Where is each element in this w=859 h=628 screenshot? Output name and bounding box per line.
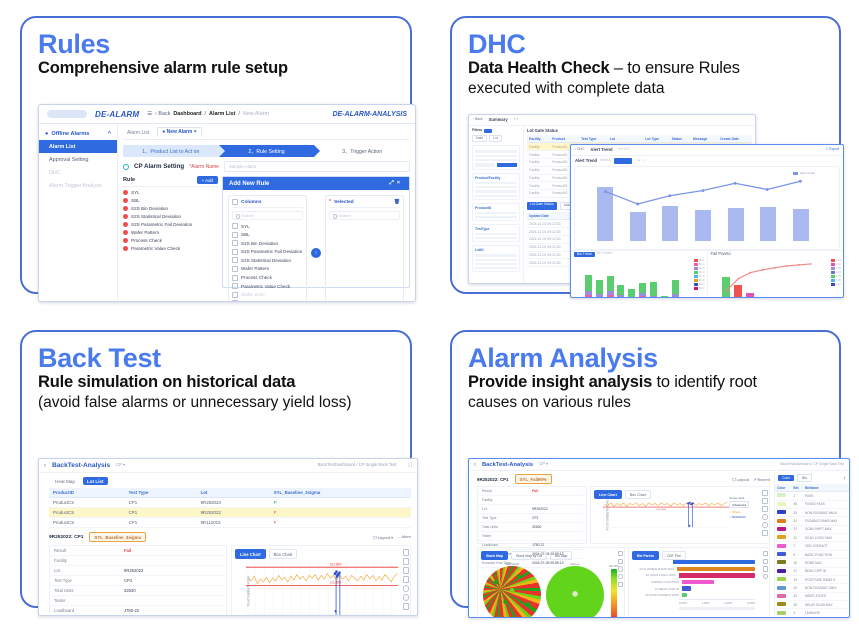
close-icon[interactable]: × bbox=[397, 180, 403, 186]
pareto-title: Fail Pareto bbox=[711, 252, 731, 256]
add-rule-button[interactable]: + Add bbox=[197, 176, 218, 184]
table-row[interactable]: ProductCSCP1 9R112015F bbox=[49, 518, 411, 528]
selected-search-input[interactable]: Search bbox=[329, 211, 400, 220]
status-dot-icon bbox=[123, 164, 129, 170]
error-dot-icon bbox=[123, 214, 128, 219]
expand-icon[interactable]: ⤢ bbox=[390, 180, 397, 186]
detail-row: ResultFail bbox=[478, 487, 586, 496]
alert-trend-label: Alert Trend bbox=[575, 159, 597, 163]
delete-icon[interactable]: 🗑 bbox=[394, 200, 400, 205]
chart-toolbar bbox=[403, 549, 410, 610]
filter-group-product-id[interactable]: ProductID bbox=[472, 203, 520, 221]
series-split-control[interactable]: Series Split isSelected ○ Others ○ 9R252… bbox=[729, 496, 749, 519]
x-tick: 0.00% bbox=[679, 601, 687, 607]
filter-badge[interactable] bbox=[484, 129, 492, 133]
download-icon[interactable] bbox=[763, 559, 768, 564]
subtitle-bold: Provide insight analysis bbox=[468, 373, 652, 391]
layout-button[interactable]: ☐ Layout bbox=[732, 477, 749, 482]
fullscreen-icon[interactable] bbox=[762, 490, 768, 496]
modal-controls[interactable]: ⤢× bbox=[390, 180, 403, 187]
table-header-row: ProductID Test Type Lot SYL_Baseline_3si… bbox=[49, 488, 411, 498]
selected-header: Selected bbox=[334, 200, 354, 205]
download-icon[interactable] bbox=[618, 559, 623, 564]
app-title: BackTest-Analysis bbox=[482, 462, 533, 468]
page-subtitle: Provide insight analysis to identify roo… bbox=[468, 373, 825, 392]
list-item[interactable]: S2S Parametric Fail Deviation bbox=[123, 222, 218, 227]
series-split-value[interactable]: isSelected bbox=[729, 501, 749, 508]
download-icon[interactable] bbox=[403, 567, 410, 574]
checkbox bbox=[232, 292, 238, 298]
horizontal-bar-series: 24 FUSABLE RAMS MAX 22 SCAN LOGIC MAX 9 … bbox=[631, 559, 755, 606]
error-dot-icon bbox=[123, 222, 128, 227]
menu-icon[interactable]: ☰ bbox=[147, 111, 152, 117]
list-item[interactable]: Process Check bbox=[123, 238, 218, 243]
table-row[interactable]: 15ROM0 MAX bbox=[775, 559, 849, 567]
table-row[interactable]: 34FUSABLE RAMS MIN bbox=[775, 617, 849, 618]
detail-row: Facility bbox=[50, 556, 226, 566]
panel-rules: Rules Comprehensive alarm rule setup DE-… bbox=[0, 0, 430, 314]
error-dot-icon bbox=[123, 230, 128, 235]
lot-detail-header: 9R252022: CP1 SYL_Baseline_3sigma ☐ Layo… bbox=[39, 528, 417, 545]
table-row[interactable]: 9BASIC FUNCTION bbox=[775, 550, 849, 558]
detail-row: Test TypeCP1 bbox=[50, 576, 226, 586]
detail-row: LoadboardJ750-22 bbox=[50, 606, 226, 616]
back-test-card: Back Test Rule simulation on historical … bbox=[20, 330, 412, 608]
list-item[interactable]: SBL bbox=[232, 232, 303, 238]
filter-group-product-facility[interactable]: Product/Facility bbox=[472, 173, 520, 200]
list-item[interactable]: SYL bbox=[123, 190, 218, 195]
table-row[interactable]: 1PASS bbox=[775, 492, 849, 500]
subtitle-rest: to identify root bbox=[652, 373, 757, 391]
cp-selector[interactable]: CP ▾ bbox=[116, 463, 125, 467]
bar[interactable] bbox=[673, 560, 755, 564]
sidebar-item-alarm-trigger-analyze[interactable]: Alarm Trigger Analyze bbox=[39, 179, 117, 192]
dhc-charts-screenshot: ‹ DHC Alert Trend ▾ ▾ CP1 ⇩ Export Alert… bbox=[570, 144, 844, 298]
checkbox[interactable] bbox=[232, 257, 238, 263]
bar-label: 25 NON-FUSABLE VMIN bbox=[631, 593, 682, 597]
horizontal-scrollbar[interactable] bbox=[679, 607, 755, 610]
table-row[interactable]: 25NON-FUSABLE VAUX bbox=[775, 508, 849, 516]
alert-trend-chart: Alert Count bbox=[574, 166, 840, 250]
bar[interactable] bbox=[617, 285, 624, 298]
wizard-stepper: 1、Product List to Act on 2、Rule Setting … bbox=[123, 145, 410, 157]
cp-selector[interactable]: CP ▾ bbox=[539, 462, 548, 466]
section-title: CP Alarm Setting bbox=[134, 163, 184, 170]
col-lot-type[interactable]: Lot Type bbox=[643, 135, 669, 143]
menu-icon[interactable] bbox=[403, 603, 410, 610]
chart-legend: F-01 F-02 F-03 F-04 F-05 F-06 F-07 bbox=[831, 259, 841, 286]
list-item[interactable]: Process Check bbox=[232, 275, 303, 281]
page-title: DHC bbox=[468, 30, 825, 58]
fail-pareto-chart: Fail Pareto bbox=[708, 251, 844, 298]
bar-label: 27 BEAD CHIP ID bbox=[631, 587, 682, 591]
refresh-icon[interactable] bbox=[762, 522, 768, 528]
alarm-analysis-screenshot: ‹ BackTest-Analysis CP ▾ BackTestDashboa… bbox=[468, 458, 850, 618]
wafer-map-bad[interactable] bbox=[483, 566, 541, 618]
tab-alarm-list[interactable]: Alarm List bbox=[123, 129, 153, 137]
filter-group-test-type[interactable]: TestType bbox=[472, 224, 520, 242]
col-color[interactable]: Color bbox=[775, 484, 791, 491]
detail-row: Total Units32630 bbox=[478, 523, 586, 532]
layout-button[interactable]: ☐ Layout ▾ bbox=[373, 535, 393, 540]
list-item[interactable]: S2S Statistical Deviation bbox=[123, 214, 218, 219]
bar[interactable] bbox=[672, 280, 679, 298]
rule-column-title: Rule bbox=[123, 177, 135, 183]
rule-items: SYL SBL S2S Bin Deviation S2S Statistica… bbox=[123, 190, 218, 251]
fullscreen-icon[interactable] bbox=[618, 551, 623, 556]
checkbox[interactable] bbox=[232, 232, 238, 238]
col-status[interactable]: Status bbox=[670, 135, 691, 143]
transfer-right-button[interactable]: › bbox=[311, 248, 321, 258]
step-rule-setting[interactable]: 2、Rule Setting bbox=[219, 145, 315, 157]
required-asterisk: * bbox=[329, 199, 331, 205]
col-lot[interactable]: Lot bbox=[197, 488, 270, 498]
section-header: CP Alarm Setting *Alarm Name Sample Alar… bbox=[123, 161, 410, 172]
columns-pane: Columns Search SYL SBL S2S Bin Deviation… bbox=[228, 195, 307, 302]
selector[interactable]: ▾ ▾ CP1 bbox=[619, 148, 631, 151]
panel-dhc: DHC Data Health Check – to ensure Rules … bbox=[430, 0, 859, 314]
tab-lot-list[interactable]: Lot List bbox=[83, 477, 108, 485]
wafer-map-lot[interactable]: 9R252022 ▬ bbox=[483, 562, 541, 618]
add-new-rule-modal: Add New Rule ⤢× Columns Search bbox=[222, 176, 410, 288]
subtitle-bold: Data Health Check bbox=[468, 59, 609, 77]
table-row[interactable]: 7VDD CONTACT bbox=[775, 542, 849, 550]
rule-chip[interactable]: SYL_Baseline_3sigma bbox=[89, 532, 146, 542]
table-row[interactable]: 22SCAN LOGIC MAX bbox=[775, 534, 849, 542]
lot-detail-table: ResultFail Facility Lot9R252022 Test Typ… bbox=[477, 486, 587, 544]
bar[interactable] bbox=[585, 275, 592, 298]
page-subtitle: Rule simulation on historical data bbox=[38, 373, 396, 392]
download-icon[interactable]: ⇩ bbox=[843, 477, 846, 480]
error-dot-icon bbox=[123, 206, 128, 211]
svg-text:UCL 98%: UCL 98% bbox=[330, 562, 342, 566]
panel-alarm-analysis: Alarm Analysis Provide insight analysis … bbox=[430, 314, 859, 628]
wafer-map-good[interactable] bbox=[546, 566, 604, 618]
chart-option[interactable]: Weekly bbox=[600, 159, 611, 162]
page-title: Back Test bbox=[38, 344, 396, 372]
checkbox bbox=[232, 300, 238, 302]
alarm-analysis-card: Alarm Analysis Provide insight analysis … bbox=[450, 330, 841, 608]
legend-lot[interactable]: ○ 9R252022 bbox=[729, 515, 749, 519]
table-row[interactable]: 24FUSABLE RAMS MAX bbox=[775, 517, 849, 525]
more-button[interactable]: … More bbox=[397, 535, 411, 540]
bar[interactable] bbox=[650, 282, 657, 298]
detail-row: Test TypeCP1 bbox=[478, 514, 586, 523]
breadcrumb-new-alarm: New Alarm bbox=[243, 111, 269, 117]
tab-lot-gate-status[interactable]: Lot Gate Status bbox=[527, 202, 557, 210]
settings-icon[interactable] bbox=[403, 585, 410, 592]
list-item[interactable]: S2S Bin Deviation bbox=[123, 206, 218, 211]
collapse-icon[interactable]: ‹ bbox=[474, 462, 476, 468]
download-icon[interactable] bbox=[762, 498, 768, 504]
list-item: Basic Stat for Parametric bbox=[232, 300, 303, 302]
breadcrumb: BackTestDashboard / CP Single Back Test bbox=[318, 463, 397, 467]
list-item[interactable]: Parametric Value Check bbox=[123, 246, 218, 251]
back-link[interactable]: ‹ Back bbox=[473, 118, 483, 121]
checkbox[interactable] bbox=[232, 249, 238, 255]
table-row[interactable]: 98FUSED PASS bbox=[775, 500, 849, 508]
bar[interactable] bbox=[607, 276, 614, 298]
col-product[interactable]: Product bbox=[550, 135, 579, 143]
tab-stack-map-by-lot[interactable]: Stack Map by Lot bbox=[511, 551, 547, 560]
lower-charts: Bin Trend Bin Pareto bbox=[571, 250, 843, 298]
offline-icon: ● bbox=[45, 131, 48, 137]
detail-row: Total Units32630 bbox=[50, 586, 226, 596]
filter-chip[interactable]: ▾ ▾ bbox=[514, 118, 518, 121]
chart-toolbar bbox=[762, 490, 768, 536]
chevron-up-icon[interactable]: ^ bbox=[108, 131, 111, 137]
table-row[interactable]: 4LEAKAGE bbox=[775, 609, 849, 617]
wafer-map-pane: Stack Map Stack Map by Lot Bin Map 9R252… bbox=[477, 547, 625, 618]
menu-icon[interactable] bbox=[762, 530, 768, 536]
sidebar-header-label: Offline Alarms bbox=[51, 131, 89, 137]
bar[interactable] bbox=[682, 593, 687, 597]
sidebar: ● Offline Alarms ^ Alarm List Approval S… bbox=[39, 124, 118, 302]
page-title: Alarm Analysis bbox=[468, 344, 825, 372]
col-facility[interactable]: Facility bbox=[527, 135, 550, 143]
series-split-label: Series Split bbox=[729, 496, 749, 500]
step-trigger-action[interactable]: 3、Trigger Action bbox=[314, 145, 410, 157]
settings-icon[interactable] bbox=[618, 566, 623, 571]
page-title: Rules bbox=[38, 30, 396, 58]
fullscreen-icon[interactable] bbox=[403, 549, 410, 556]
error-dot-icon bbox=[123, 190, 128, 195]
chart-toolbar bbox=[763, 551, 768, 579]
chart-legend: Bin 1 Bin 2 Bin 3 Bin 4 Bin 5 Bin 6 Bin … bbox=[694, 259, 705, 290]
error-dot-icon bbox=[123, 246, 128, 251]
table-row[interactable]: 27BEAD CHIP ID bbox=[775, 567, 849, 575]
table-row[interactable]: 23SCAN SHIFT MAX bbox=[775, 525, 849, 533]
col-lot[interactable]: Lot bbox=[608, 135, 644, 143]
list-item[interactable]: SYL bbox=[232, 223, 303, 229]
bar[interactable] bbox=[628, 289, 635, 298]
feature-panel-grid: Rules Comprehensive alarm rule setup DE-… bbox=[0, 0, 859, 628]
list-item[interactable]: S2S Bin Deviation bbox=[232, 240, 303, 246]
bin-legend-panel: Color Bin ⇩ Color Bin BinName bbox=[774, 471, 849, 615]
sidebar-item-dhc[interactable]: DHC bbox=[39, 166, 117, 179]
breadcrumb-dashboard[interactable]: Dashboard bbox=[173, 111, 201, 117]
table-row[interactable]: 32MBIST ATOPS bbox=[775, 592, 849, 600]
view-tabs: Heat Map Lot List bbox=[39, 473, 417, 488]
checkbox[interactable] bbox=[232, 266, 238, 272]
grid-icon[interactable] bbox=[762, 506, 768, 512]
filter-group-title: Product/Facility bbox=[475, 176, 517, 180]
alarm-name-label: *Alarm Name bbox=[189, 164, 219, 170]
app-title: BackTest-Analysis bbox=[52, 462, 110, 469]
date-picker[interactable] bbox=[472, 145, 520, 170]
checkbox[interactable] bbox=[232, 240, 238, 246]
recent-button[interactable]: ↗ Recent bbox=[753, 477, 770, 482]
bar-label: 9 BASIC FUNCTION bbox=[631, 580, 682, 584]
bar[interactable] bbox=[596, 280, 603, 298]
bar[interactable] bbox=[639, 283, 646, 298]
back-link[interactable]: ‹ DHC bbox=[575, 148, 584, 151]
bar-label: 24 FUSABLE RAMS MAX bbox=[631, 567, 677, 571]
chart-canvas: UCL 98% LCL 88% 90% 80% 70% 09-09-09-09-… bbox=[246, 558, 398, 616]
lot-detail-table: ResultFail Facility Lot9R252022 Test Typ… bbox=[49, 545, 227, 616]
svg-text:LCL 88%: LCL 88% bbox=[330, 580, 341, 584]
page-subtitle: Data Health Check – to ensure Rules bbox=[468, 59, 825, 78]
yield-line-chart: Line Chart Box Chart FinalYieldByTestSit… bbox=[231, 545, 411, 616]
filters-label: Filters bbox=[472, 129, 482, 132]
legend-others[interactable]: ○ Others bbox=[729, 510, 749, 514]
tab-color[interactable]: Color bbox=[778, 475, 794, 481]
table-row[interactable]: 19POSTFUSE RAMS S bbox=[775, 575, 849, 583]
filter-group-title: ProductID bbox=[475, 206, 517, 210]
page-subtitle-line2: executed with complete data bbox=[468, 80, 825, 99]
error-dot-icon bbox=[123, 198, 128, 203]
col-test-type[interactable]: Test Type bbox=[579, 135, 608, 143]
breadcrumb-alarm-list[interactable]: Alarm List bbox=[209, 111, 235, 117]
col-bin[interactable]: Bin bbox=[791, 484, 803, 491]
tab-bin-map[interactable]: Bin Map bbox=[550, 551, 572, 560]
checkbox[interactable] bbox=[232, 275, 238, 281]
lot-label: 9R252022: CP1 bbox=[49, 535, 83, 540]
app-header: DE-ALARM ☰ ‹ Back Dashboard/ Alarm List/… bbox=[39, 105, 415, 124]
section-title: Lot Gate Status bbox=[527, 129, 752, 133]
table-header-row: Facility Product Test Type Lot Lot Type … bbox=[527, 135, 752, 143]
refresh-icon[interactable] bbox=[618, 574, 623, 579]
table-row[interactable]: 28DELAY SCAN MAX bbox=[775, 601, 849, 609]
select-all-checkbox[interactable] bbox=[232, 199, 238, 205]
cumulative-line bbox=[720, 261, 818, 298]
settings-icon[interactable] bbox=[763, 574, 768, 579]
step-product-list[interactable]: 1、Product List to Act on bbox=[123, 145, 219, 157]
table-row[interactable]: ProductCSCP1 9R282023P bbox=[49, 498, 411, 508]
toggle-monthly[interactable] bbox=[614, 158, 632, 164]
bin-table: Color Bin BinName 1PASS 98FUSED PASS 25N… bbox=[775, 484, 849, 618]
panel-back-test: Back Test Rule simulation on historical … bbox=[0, 314, 430, 628]
list-item[interactable]: S2S Parametric Fail Deviation bbox=[232, 249, 303, 255]
back-link[interactable]: ‹ Back bbox=[155, 111, 170, 117]
company-logo bbox=[47, 110, 87, 118]
breadcrumb: BackTestDashboard / CP Single Back Test bbox=[780, 463, 844, 466]
list-item[interactable]: S2S Statistical Deviation bbox=[232, 257, 303, 263]
alarm-name-input[interactable]: Sample Alarm bbox=[224, 161, 410, 172]
filter-group-title: TestType bbox=[475, 227, 517, 231]
wafer-map-others[interactable]: Others ▬ bbox=[546, 562, 604, 618]
page-subtitle: Comprehensive alarm rule setup bbox=[38, 59, 396, 78]
table-row[interactable]: 26NON-FUSABLE VMIN bbox=[775, 584, 849, 592]
menu-icon[interactable] bbox=[618, 582, 623, 587]
copy-icon[interactable] bbox=[403, 558, 410, 565]
tab-secondary[interactable]: Bin Pareto bbox=[597, 252, 613, 257]
detail-row: Facility bbox=[478, 496, 586, 505]
table-header-row: Color Bin BinName bbox=[775, 484, 849, 491]
list-item[interactable]: SBL bbox=[123, 198, 218, 203]
yield-line-chart: Line Chart Box Chart FinalYieldByTestSit… bbox=[590, 486, 770, 544]
page-label: Summary bbox=[489, 118, 508, 122]
bin-pareto-pane: Bin Pareto CBF Plot 24 FUSABLE RAMS MAX … bbox=[628, 547, 770, 618]
trend-line bbox=[589, 175, 817, 231]
chart-app-header: ‹ DHC Alert Trend ▾ ▾ CP1 ⇩ Export bbox=[571, 145, 843, 156]
modal-title: Add New Rule bbox=[229, 181, 269, 187]
bin-rows: 1PASS 98FUSED PASS 25NON-FUSABLE VAUX 24… bbox=[775, 492, 849, 618]
col-product-id[interactable]: ProductID bbox=[49, 488, 125, 498]
tab-stack-map[interactable]: Stack Map bbox=[481, 551, 508, 560]
list-item[interactable]: Parametric Value Check bbox=[232, 283, 303, 289]
sidebar-item-approval-setting[interactable]: Approval Setting bbox=[39, 153, 117, 166]
refresh-icon[interactable] bbox=[403, 594, 410, 601]
tab-date[interactable]: Date bbox=[472, 135, 487, 142]
chart-toolbar bbox=[618, 551, 623, 587]
detail-row: ResultFail bbox=[50, 546, 226, 556]
detail-row: Lot9R252022 bbox=[50, 566, 226, 576]
bar[interactable] bbox=[682, 586, 691, 590]
stacked-bar-series bbox=[583, 261, 681, 298]
checkbox[interactable] bbox=[232, 283, 238, 289]
subtitle-rest: – to ensure Rules bbox=[609, 59, 739, 77]
sidebar-item-alarm-list[interactable]: Alarm List bbox=[39, 140, 117, 153]
bar[interactable] bbox=[679, 573, 755, 577]
bar-label: 22 SCAN LOGIC MAX bbox=[631, 573, 679, 577]
detail-row: Lot9R252022 bbox=[478, 505, 586, 514]
settings-icon[interactable] bbox=[762, 514, 768, 520]
rules-card: Rules Comprehensive alarm rule setup DE-… bbox=[20, 16, 412, 294]
app-header: ‹ BackTest-Analysis CP ▾ BackTestDashboa… bbox=[469, 459, 849, 471]
col-syl-baseline-3sigma[interactable]: SYL_Baseline_3sigma bbox=[270, 488, 411, 498]
list-item[interactable]: Wafer Pattern bbox=[232, 266, 303, 272]
app-header: ‹ BackTest-Analysis CP ▾ BackTestDashboa… bbox=[39, 459, 417, 473]
bar[interactable] bbox=[682, 580, 714, 584]
rules-app-screenshot: DE-ALARM ☰ ‹ Back Dashboard/ Alarm List/… bbox=[38, 104, 416, 302]
col-test-type[interactable]: Test Type bbox=[125, 488, 197, 498]
lot-label: 9R252022: CP1 bbox=[477, 477, 509, 482]
rule-list-column: Rule + Add SYL SBL S2S Bin Deviation S2S… bbox=[123, 176, 222, 288]
detail-row: Tester bbox=[478, 532, 586, 541]
tab-bin-trend[interactable]: Bin Trend bbox=[574, 252, 595, 257]
sidebar-header[interactable]: ● Offline Alarms ^ bbox=[39, 128, 117, 140]
tab-bin[interactable]: Bin bbox=[797, 474, 812, 482]
grid-icon[interactable] bbox=[403, 576, 410, 583]
bar[interactable] bbox=[677, 567, 755, 571]
tab-heat-map[interactable]: Heat Map bbox=[51, 477, 79, 485]
col-message[interactable]: Message bbox=[691, 135, 718, 143]
selected-pane: *Selected🗑 Search bbox=[325, 195, 404, 302]
bar[interactable] bbox=[661, 296, 668, 298]
col-create-date[interactable]: Create Date bbox=[718, 135, 752, 143]
backtest-app-screenshot: ‹ BackTest-Analysis CP ▾ BackTestDashboa… bbox=[38, 458, 418, 616]
list-item[interactable]: Wafer Pattern bbox=[123, 230, 218, 235]
scale-gradient bbox=[611, 569, 617, 619]
page-subtitle-line2: (avoid false alarms or unnecessary yield… bbox=[38, 394, 396, 413]
columns-header: Columns bbox=[241, 200, 262, 205]
chart-radio-group[interactable]: ○ ● ○○ bbox=[635, 159, 645, 162]
rule-chip[interactable]: SYL_Fail90% bbox=[515, 474, 552, 484]
expand-icon[interactable]: [ ] bbox=[409, 463, 413, 467]
checkbox[interactable] bbox=[232, 223, 238, 229]
tab-new-alarm[interactable]: ● New Alarm × bbox=[157, 127, 201, 137]
export-button[interactable]: ⇩ Export bbox=[825, 148, 839, 151]
fullscreen-icon[interactable] bbox=[763, 551, 768, 556]
columns-search-input[interactable]: Search bbox=[232, 211, 303, 220]
table-row[interactable]: ProductCSCP1 9R252022F bbox=[49, 508, 411, 518]
dhc-card: DHC Data Health Check – to ensure Rules … bbox=[450, 16, 841, 294]
grid-icon[interactable] bbox=[763, 566, 768, 571]
app-header: ‹ Back Summary ▾ ▾ bbox=[469, 115, 755, 126]
breadcrumb: ☰ ‹ Back Dashboard/ Alarm List/ New Alar… bbox=[147, 111, 269, 117]
x-tick: 1.00% bbox=[702, 601, 710, 607]
error-dot-icon bbox=[123, 238, 128, 243]
detail-row: Tester bbox=[50, 596, 226, 606]
lot-detail-header: 9R252022: CP1 SYL_Fail90% ☐ Layout ↗ Rec… bbox=[469, 471, 774, 486]
collapse-icon[interactable]: ‹ bbox=[44, 463, 46, 469]
col-bin-name[interactable]: BinName bbox=[803, 484, 849, 491]
tab-bar: Alarm List ● New Alarm × bbox=[123, 127, 410, 140]
filter-group-lot-id[interactable]: LotID bbox=[472, 245, 520, 272]
x-tick: 2.00% bbox=[724, 601, 732, 607]
tab-lot[interactable]: Lot bbox=[489, 135, 502, 142]
